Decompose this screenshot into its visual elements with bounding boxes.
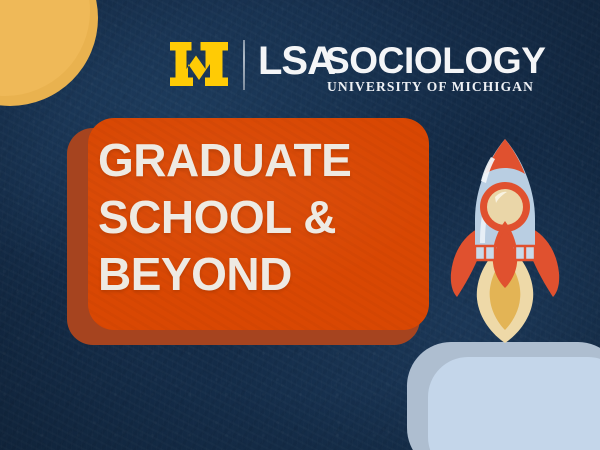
logo-unit-text: SOCIOLOGY xyxy=(325,38,545,83)
logo-lsa-text: LSA xyxy=(258,39,335,83)
poster-canvas: LSA SOCIOLOGY UNIVERSITY OF MICHIGAN GRA… xyxy=(0,0,600,450)
blue-panel-front xyxy=(428,357,600,450)
lsa-sociology-lockup: LSA SOCIOLOGY UNIVERSITY OF MICHIGAN xyxy=(170,38,482,96)
rocket-icon xyxy=(443,133,567,345)
logo-divider xyxy=(243,40,245,90)
logo-institution-text: UNIVERSITY OF MICHIGAN xyxy=(327,79,534,95)
page-title: GRADUATE SCHOOL & BEYOND xyxy=(98,132,428,303)
block-m-icon xyxy=(170,42,228,86)
